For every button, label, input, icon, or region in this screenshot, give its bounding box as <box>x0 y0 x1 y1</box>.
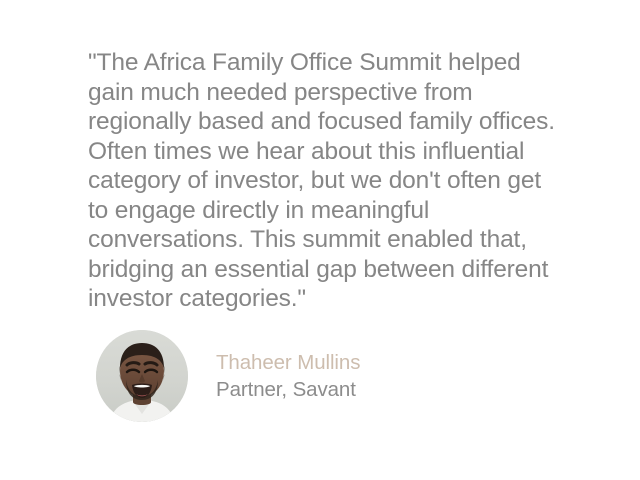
attribution-text: Thaheer Mullins Partner, Savant <box>216 350 360 403</box>
avatar <box>96 330 188 422</box>
testimonial-attribution: Thaheer Mullins Partner, Savant <box>96 330 360 422</box>
testimonial-card: "The Africa Family Office Summit helped … <box>0 0 640 480</box>
author-title: Partner, Savant <box>216 377 360 403</box>
quote-block: "The Africa Family Office Summit helped … <box>88 48 564 314</box>
avatar-photo-icon <box>96 330 188 422</box>
author-name: Thaheer Mullins <box>216 350 360 376</box>
testimonial-quote-text: "The Africa Family Office Summit helped … <box>88 48 564 314</box>
